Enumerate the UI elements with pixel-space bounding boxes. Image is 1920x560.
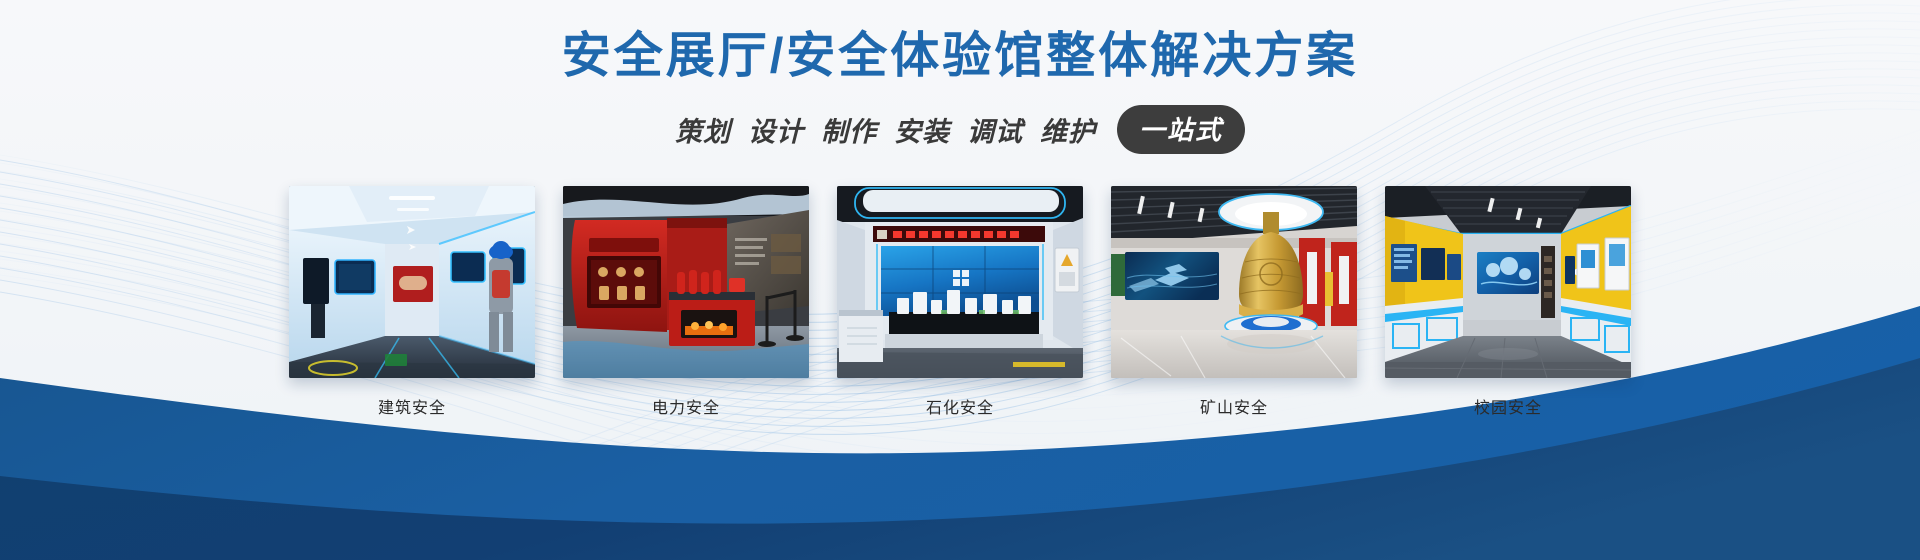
- thumbnail-mine-safety[interactable]: [1111, 186, 1357, 378]
- service-step-2: 设计: [748, 110, 804, 149]
- campus-hall-illustration: [1385, 186, 1631, 378]
- mine-hall-illustration: [1111, 186, 1357, 378]
- card-label-construction: 建筑安全: [378, 394, 446, 418]
- solution-card-campus[interactable]: 校园安全: [1385, 186, 1631, 418]
- service-step-1: 策划: [675, 110, 731, 149]
- card-label-campus: 校园安全: [1474, 394, 1542, 418]
- solution-card-construction[interactable]: 建筑安全: [289, 186, 535, 418]
- solution-banner: 安全展厅/安全体验馆整体解决方案 策划 设计 制作 安装 调试 维护 一站式: [0, 0, 1920, 560]
- power-hall-illustration: [563, 186, 809, 378]
- thumbnail-petrochemical-safety[interactable]: [837, 186, 1083, 378]
- thumbnail-campus-safety[interactable]: [1385, 186, 1631, 378]
- service-step-6: 维护: [1040, 110, 1096, 149]
- card-label-mine: 矿山安全: [1200, 394, 1268, 418]
- petrochemical-hall-illustration: [837, 186, 1083, 378]
- service-steps-row: 策划 设计 制作 安装 调试 维护 一站式: [675, 105, 1245, 154]
- thumbnail-construction-safety[interactable]: [289, 186, 535, 378]
- solution-card-mine[interactable]: 矿山安全: [1111, 186, 1357, 418]
- solution-card-petrochemical[interactable]: 石化安全: [837, 186, 1083, 418]
- thumbnail-power-safety[interactable]: [563, 186, 809, 378]
- service-step-3: 制作: [821, 110, 877, 149]
- page-title: 安全展厅/安全体验馆整体解决方案: [562, 26, 1359, 87]
- solution-cards-row: 建筑安全: [289, 186, 1631, 418]
- construction-hall-illustration: [289, 186, 535, 378]
- banner-content: 安全展厅/安全体验馆整体解决方案 策划 设计 制作 安装 调试 维护 一站式: [0, 0, 1920, 560]
- service-step-4: 安装: [894, 110, 950, 149]
- one-stop-badge: 一站式: [1117, 105, 1245, 154]
- card-label-power: 电力安全: [652, 394, 720, 418]
- service-step-5: 调试: [967, 110, 1023, 149]
- solution-card-power[interactable]: 电力安全: [563, 186, 809, 418]
- card-label-petrochemical: 石化安全: [926, 394, 994, 418]
